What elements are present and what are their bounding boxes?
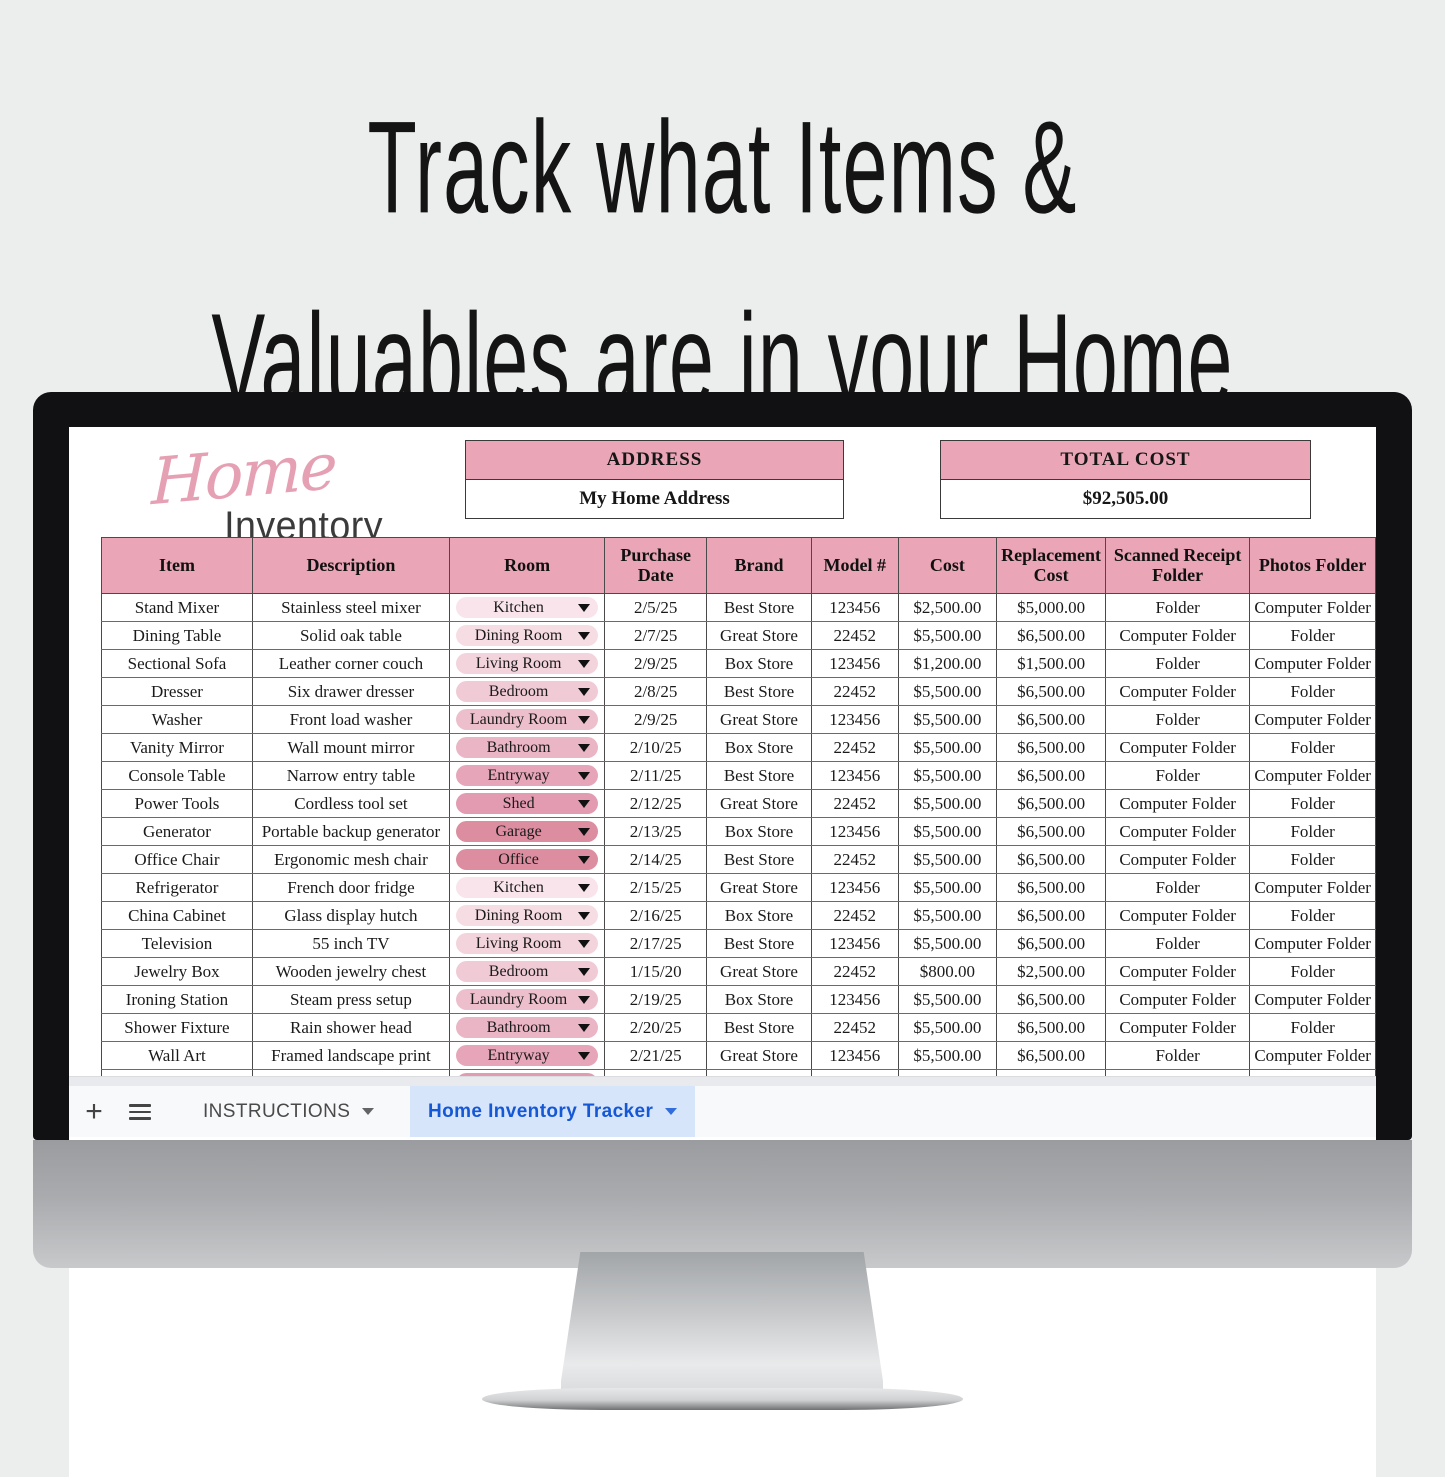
cell-date[interactable]: 2/17/25 <box>605 930 707 958</box>
room-chip-label: Kitchen <box>462 599 575 617</box>
cell-replacement[interactable]: $6,500.00 <box>997 678 1106 706</box>
cell-receipt[interactable]: Folder <box>1105 874 1249 902</box>
cell-photos[interactable]: Computer Folder <box>1250 930 1376 958</box>
table-row: Office ChairErgonomic mesh chairOffice2/… <box>102 846 1376 874</box>
cell-photos[interactable]: Folder <box>1250 622 1376 650</box>
cell-brand[interactable]: Great Store <box>707 1042 812 1070</box>
room-chip-label: Entryway <box>462 1047 575 1065</box>
cell-receipt[interactable]: Computer Folder <box>1105 1014 1249 1042</box>
cell-item[interactable]: Dining Table <box>102 622 253 650</box>
cell-item[interactable]: Refrigerator <box>102 874 253 902</box>
cell-model[interactable]: 22452 <box>811 846 898 874</box>
cell-cost[interactable]: $5,500.00 <box>898 762 996 790</box>
cell-receipt[interactable]: Computer Folder <box>1105 790 1249 818</box>
cell-photos[interactable]: Computer Folder <box>1250 594 1376 622</box>
room-chip-label: Garage <box>462 823 575 841</box>
cell-room-dropdown[interactable]: Bathroom <box>449 1014 604 1042</box>
cell-receipt[interactable]: Computer Folder <box>1105 622 1249 650</box>
cell-brand[interactable]: Best Store <box>707 930 812 958</box>
cell-photos[interactable]: Computer Folder <box>1250 1042 1376 1070</box>
cell-cost[interactable]: $5,500.00 <box>898 678 996 706</box>
sheet-tab-instructions[interactable]: INSTRUCTIONS <box>185 1086 392 1137</box>
cell-description[interactable]: Glass display hutch <box>252 902 449 930</box>
cell-item[interactable]: Generator <box>102 818 253 846</box>
room-chip[interactable]: Bedroom <box>456 961 598 982</box>
room-chip-label: Office <box>462 851 575 869</box>
cell-item[interactable]: Washer <box>102 706 253 734</box>
cell-receipt[interactable]: Computer Folder <box>1105 846 1249 874</box>
cell-replacement[interactable]: $6,500.00 <box>997 846 1106 874</box>
room-chip-label: Entryway <box>462 767 575 785</box>
sheet-tab-instructions-label: INSTRUCTIONS <box>203 1101 350 1123</box>
cell-date[interactable]: 2/16/25 <box>605 902 707 930</box>
room-chip-label: Kitchen <box>462 879 575 897</box>
inventory-table: ItemDescriptionRoomPurchase DateBrandMod… <box>101 537 1376 1076</box>
column-header-item[interactable]: Item <box>102 538 253 594</box>
chevron-down-icon[interactable] <box>578 996 590 1004</box>
table-row: Console TableNarrow entry tableEntryway2… <box>102 762 1376 790</box>
cell-date[interactable]: 2/5/25 <box>605 594 707 622</box>
all-sheets-menu-icon[interactable] <box>125 1097 155 1127</box>
monitor-lower-body <box>33 1140 1412 1268</box>
cell-date[interactable]: 2/9/25 <box>605 650 707 678</box>
cell-room-dropdown[interactable]: Office <box>449 846 604 874</box>
cell-photos[interactable]: Folder <box>1250 1014 1376 1042</box>
chevron-down-icon[interactable] <box>578 772 590 780</box>
cell-cost[interactable]: $2,500.00 <box>898 594 996 622</box>
room-chip[interactable]: Dining Room <box>456 905 598 926</box>
cell-item[interactable]: Shower Fixture <box>102 1014 253 1042</box>
cell-brand[interactable]: Best Store <box>707 594 812 622</box>
cell-brand[interactable]: Best Store <box>707 678 812 706</box>
cell-brand[interactable]: Box Store <box>707 650 812 678</box>
chevron-down-icon[interactable] <box>578 912 590 920</box>
chevron-down-icon[interactable] <box>578 604 590 612</box>
cell-date[interactable]: 1/15/20 <box>605 958 707 986</box>
cell-date[interactable]: 2/8/25 <box>605 678 707 706</box>
cell-brand[interactable]: Great Store <box>707 706 812 734</box>
chevron-down-icon[interactable] <box>578 1052 590 1060</box>
cell-item[interactable]: Television <box>102 930 253 958</box>
table-row: GeneratorPortable backup generatorGarage… <box>102 818 1376 846</box>
room-chip-label: Bedroom <box>462 683 575 701</box>
cell-item[interactable]: Power Tools <box>102 790 253 818</box>
cell-receipt[interactable]: Folder <box>1105 930 1249 958</box>
room-chip[interactable]: Laundry Room <box>456 989 598 1010</box>
cell-brand[interactable]: Great Store <box>707 622 812 650</box>
cell-cost[interactable]: $5,500.00 <box>898 790 996 818</box>
room-chip-label: Bathroom <box>462 1019 575 1037</box>
chevron-down-icon[interactable] <box>578 800 590 808</box>
column-header-brand[interactable]: Brand <box>707 538 812 594</box>
room-chip[interactable]: Office <box>456 849 598 870</box>
cell-replacement[interactable]: $6,500.00 <box>997 874 1106 902</box>
cell-item[interactable]: China Cabinet <box>102 902 253 930</box>
cell-room-dropdown[interactable]: Bedroom <box>449 678 604 706</box>
cell-model[interactable]: 123456 <box>811 762 898 790</box>
cell-replacement[interactable]: $6,500.00 <box>997 706 1106 734</box>
room-chip[interactable]: Bathroom <box>456 1017 598 1038</box>
cell-description[interactable]: Front load washer <box>252 706 449 734</box>
room-chip-label: Laundry Room <box>462 991 575 1009</box>
chevron-down-icon[interactable] <box>578 688 590 696</box>
cell-item[interactable]: Jewelry Box <box>102 958 253 986</box>
column-header-scanned-receipt-folder[interactable]: Scanned Receipt Folder <box>1105 538 1249 594</box>
cell-photos[interactable]: Computer Folder <box>1250 986 1376 1014</box>
cell-item[interactable]: Vanity Mirror <box>102 734 253 762</box>
home-inventory-logo: Home Inventory <box>151 442 451 552</box>
room-chip-label: Laundry Room <box>462 711 575 729</box>
monitor-stand-base <box>482 1388 963 1410</box>
cell-replacement[interactable]: $6,500.00 <box>997 930 1106 958</box>
cell-model[interactable]: 123456 <box>811 930 898 958</box>
room-chip[interactable]: Laundry Room <box>456 709 598 730</box>
column-header-purchase-date[interactable]: Purchase Date <box>605 538 707 594</box>
room-chip[interactable]: Dining Room <box>456 625 598 646</box>
sheet-tab-home-inventory-tracker[interactable]: Home Inventory Tracker <box>410 1086 695 1137</box>
cell-item[interactable]: Wall Art <box>102 1042 253 1070</box>
cell-replacement[interactable]: $5,000.00 <box>997 594 1106 622</box>
room-chip[interactable]: Shed <box>456 793 598 814</box>
chevron-down-icon[interactable] <box>578 884 590 892</box>
cell-description[interactable]: Wall mount mirror <box>252 734 449 762</box>
column-header-description[interactable]: Description <box>252 538 449 594</box>
cell-room-dropdown[interactable]: Garage <box>449 818 604 846</box>
cell-cost[interactable]: $5,500.00 <box>898 874 996 902</box>
cell-receipt[interactable]: Folder <box>1105 1042 1249 1070</box>
table-row: China CabinetGlass display hutchDining R… <box>102 902 1376 930</box>
chevron-down-icon[interactable] <box>578 716 590 724</box>
cell-photos[interactable]: Folder <box>1250 678 1376 706</box>
cell-cost[interactable]: $5,500.00 <box>898 846 996 874</box>
cell-model[interactable]: 123456 <box>811 874 898 902</box>
cell-description[interactable]: Framed landscape print <box>252 1042 449 1070</box>
cell-replacement[interactable]: $6,500.00 <box>997 818 1106 846</box>
cell-date[interactable]: 2/12/25 <box>605 790 707 818</box>
cell-replacement[interactable]: $6,500.00 <box>997 1014 1106 1042</box>
cell-room-dropdown[interactable]: Laundry Room <box>449 986 604 1014</box>
cell-model[interactable]: 123456 <box>811 986 898 1014</box>
room-chip[interactable]: Living Room <box>456 933 598 954</box>
cell-model[interactable]: 22452 <box>811 958 898 986</box>
cell-photos[interactable]: Folder <box>1250 734 1376 762</box>
cell-receipt[interactable]: Computer Folder <box>1105 958 1249 986</box>
cell-description[interactable]: Portable backup generator <box>252 818 449 846</box>
cell-model[interactable]: 123456 <box>811 594 898 622</box>
cell-replacement[interactable]: $6,500.00 <box>997 1042 1106 1070</box>
monitor-stand-neck <box>561 1252 883 1402</box>
address-label: ADDRESS <box>465 440 844 480</box>
chevron-down-icon[interactable] <box>578 940 590 948</box>
cell-cost[interactable]: $5,500.00 <box>898 706 996 734</box>
cell-receipt[interactable]: Folder <box>1105 762 1249 790</box>
cell-cost[interactable]: $5,500.00 <box>898 622 996 650</box>
cell-model[interactable]: 123456 <box>811 818 898 846</box>
cell-brand[interactable]: Great Store <box>707 958 812 986</box>
address-box: ADDRESS My Home Address <box>465 440 844 519</box>
cell-description[interactable]: Solid oak table <box>252 622 449 650</box>
room-chip[interactable]: Kitchen <box>456 877 598 898</box>
column-header-photos-folder[interactable]: Photos Folder <box>1250 538 1376 594</box>
cell-description[interactable]: 55 inch TV <box>252 930 449 958</box>
table-row: RefrigeratorFrench door fridgeKitchen2/1… <box>102 874 1376 902</box>
cell-date[interactable]: 2/20/25 <box>605 1014 707 1042</box>
chevron-down-icon[interactable] <box>578 744 590 752</box>
cell-receipt[interactable]: Computer Folder <box>1105 734 1249 762</box>
cell-cost[interactable]: $5,500.00 <box>898 1042 996 1070</box>
table-row: Dining TableSolid oak tableDining Room2/… <box>102 622 1376 650</box>
cell-receipt[interactable]: Computer Folder <box>1105 818 1249 846</box>
cell-date[interactable]: 2/15/25 <box>605 874 707 902</box>
cell-description[interactable]: Rain shower head <box>252 1014 449 1042</box>
cell-brand[interactable]: Great Store <box>707 790 812 818</box>
cell-cost[interactable]: $5,500.00 <box>898 902 996 930</box>
room-chip-label: Bathroom <box>462 739 575 757</box>
cell-replacement[interactable]: $6,500.00 <box>997 790 1106 818</box>
cell-item[interactable]: Stand Mixer <box>102 594 253 622</box>
cell-photos[interactable]: Folder <box>1250 902 1376 930</box>
room-chip[interactable]: Living Room <box>456 653 598 674</box>
cell-model[interactable]: 22452 <box>811 1014 898 1042</box>
add-sheet-icon[interactable]: + <box>79 1097 109 1127</box>
total-cost-value: $92,505.00 <box>940 480 1311 519</box>
cell-receipt[interactable]: Folder <box>1105 706 1249 734</box>
cell-description[interactable]: Ergonomic mesh chair <box>252 846 449 874</box>
cell-room-dropdown[interactable]: Entryway <box>449 1042 604 1070</box>
cell-description[interactable]: Narrow entry table <box>252 762 449 790</box>
cell-date[interactable]: 2/7/25 <box>605 622 707 650</box>
chevron-down-icon[interactable] <box>578 828 590 836</box>
cell-brand[interactable]: Box Store <box>707 734 812 762</box>
cell-date[interactable]: 2/13/25 <box>605 818 707 846</box>
cell-receipt[interactable]: Computer Folder <box>1105 902 1249 930</box>
cell-description[interactable]: French door fridge <box>252 874 449 902</box>
cell-brand[interactable]: Box Store <box>707 818 812 846</box>
chevron-down-icon[interactable] <box>578 968 590 976</box>
table-row: Power ToolsCordless tool setShed2/12/25G… <box>102 790 1376 818</box>
table-row: Stand MixerStainless steel mixerKitchen2… <box>102 594 1376 622</box>
address-value[interactable]: My Home Address <box>465 480 844 519</box>
cell-room-dropdown[interactable]: Dining Room <box>449 622 604 650</box>
room-chip-label: Dining Room <box>462 627 575 645</box>
chevron-down-icon[interactable] <box>362 1108 374 1115</box>
cell-item[interactable]: Ironing Station <box>102 986 253 1014</box>
cell-model[interactable]: 123456 <box>811 1042 898 1070</box>
cell-date[interactable]: 2/21/25 <box>605 1042 707 1070</box>
cell-replacement[interactable]: $6,500.00 <box>997 986 1106 1014</box>
cell-receipt[interactable]: Folder <box>1105 650 1249 678</box>
column-header-replacement-cost[interactable]: Replacement Cost <box>997 538 1106 594</box>
table-row: WasherFront load washerLaundry Room2/9/2… <box>102 706 1376 734</box>
cell-brand[interactable]: Great Store <box>707 874 812 902</box>
cell-room-dropdown[interactable]: Entryway <box>449 762 604 790</box>
cell-receipt[interactable]: Computer Folder <box>1105 678 1249 706</box>
cell-brand[interactable]: Best Store <box>707 762 812 790</box>
cell-model[interactable]: 22452 <box>811 678 898 706</box>
cell-cost[interactable]: $1,200.00 <box>898 650 996 678</box>
cell-cost[interactable]: $5,500.00 <box>898 1014 996 1042</box>
room-chip-label: Bedroom <box>462 963 575 981</box>
cell-room-dropdown[interactable]: Bathroom <box>449 734 604 762</box>
cell-photos[interactable]: Computer Folder <box>1250 762 1376 790</box>
spreadsheet-area: Home Inventory ADDRESS My Home Address T… <box>69 427 1376 1076</box>
cell-brand[interactable]: Box Store <box>707 986 812 1014</box>
cell-photos[interactable]: Computer Folder <box>1250 650 1376 678</box>
cell-description[interactable]: Wooden jewelry chest <box>252 958 449 986</box>
cell-model[interactable]: 123456 <box>811 650 898 678</box>
cell-item[interactable]: Sectional Sofa <box>102 650 253 678</box>
room-chip[interactable]: Garage <box>456 821 598 842</box>
cell-item[interactable]: Office Chair <box>102 846 253 874</box>
table-row: Shower FixtureRain shower headBathroom2/… <box>102 1014 1376 1042</box>
chevron-down-icon[interactable] <box>578 660 590 668</box>
cell-description[interactable]: Six drawer dresser <box>252 678 449 706</box>
cell-photos[interactable]: Computer Folder <box>1250 706 1376 734</box>
table-row: Ironing StationSteam press setupLaundry … <box>102 986 1376 1014</box>
table-row: DresserSix drawer dresserBedroom2/8/25Be… <box>102 678 1376 706</box>
cell-room-dropdown[interactable]: Living Room <box>449 650 604 678</box>
room-chip-label: Living Room <box>462 655 575 673</box>
cell-brand[interactable]: Best Store <box>707 1014 812 1042</box>
cell-brand[interactable]: Best Store <box>707 846 812 874</box>
chevron-down-icon[interactable] <box>665 1108 677 1115</box>
total-cost-label: TOTAL COST <box>940 440 1311 480</box>
cell-room-dropdown[interactable]: Kitchen <box>449 594 604 622</box>
cell-description[interactable]: Steam press setup <box>252 986 449 1014</box>
monitor-mockup: Home Inventory ADDRESS My Home Address T… <box>33 392 1412 1140</box>
cell-replacement[interactable]: $2,500.00 <box>997 958 1106 986</box>
cell-receipt[interactable]: Folder <box>1105 594 1249 622</box>
cell-date[interactable]: 2/9/25 <box>605 706 707 734</box>
headline-line-1: Track what Items & <box>145 72 1301 264</box>
cell-model[interactable]: 123456 <box>811 706 898 734</box>
table-row: Jewelry BoxWooden jewelry chestBedroom1/… <box>102 958 1376 986</box>
room-chip-label: Shed <box>462 795 575 813</box>
tabbar-top-strip <box>69 1077 1376 1086</box>
cell-model[interactable]: 22452 <box>811 902 898 930</box>
room-chip-label: Dining Room <box>462 907 575 925</box>
cell-model[interactable]: 22452 <box>811 622 898 650</box>
cell-photos[interactable]: Computer Folder <box>1250 874 1376 902</box>
cell-description[interactable]: Leather corner couch <box>252 650 449 678</box>
cell-date[interactable]: 2/10/25 <box>605 734 707 762</box>
cell-receipt[interactable]: Computer Folder <box>1105 986 1249 1014</box>
cell-cost[interactable]: $5,500.00 <box>898 986 996 1014</box>
cell-room-dropdown[interactable]: Shed <box>449 790 604 818</box>
cell-date[interactable]: 2/19/25 <box>605 986 707 1014</box>
column-header-room[interactable]: Room <box>449 538 604 594</box>
cell-replacement[interactable]: $6,500.00 <box>997 734 1106 762</box>
cell-room-dropdown[interactable]: Laundry Room <box>449 706 604 734</box>
cell-model[interactable]: 22452 <box>811 790 898 818</box>
cell-cost[interactable]: $5,500.00 <box>898 930 996 958</box>
cell-photos[interactable]: Folder <box>1250 790 1376 818</box>
column-header-cost[interactable]: Cost <box>898 538 996 594</box>
column-header-model[interactable]: Model # <box>811 538 898 594</box>
sheet-tab-bar: + INSTRUCTIONS Home Inventory Tracker <box>69 1076 1376 1137</box>
cell-brand[interactable]: Box Store <box>707 902 812 930</box>
chevron-down-icon[interactable] <box>578 856 590 864</box>
cell-room-dropdown[interactable]: Kitchen <box>449 874 604 902</box>
chevron-down-icon[interactable] <box>578 1024 590 1032</box>
table-row: Television55 inch TVLiving Room2/17/25Be… <box>102 930 1376 958</box>
cell-replacement[interactable]: $1,500.00 <box>997 650 1106 678</box>
cell-replacement[interactable]: $6,500.00 <box>997 902 1106 930</box>
cell-item[interactable]: Console Table <box>102 762 253 790</box>
cell-date[interactable]: 2/11/25 <box>605 762 707 790</box>
cell-photos[interactable]: Folder <box>1250 818 1376 846</box>
room-chip-label: Living Room <box>462 935 575 953</box>
cell-replacement[interactable]: $6,500.00 <box>997 622 1106 650</box>
room-chip[interactable]: Bedroom <box>456 681 598 702</box>
table-row: Vanity MirrorWall mount mirrorBathroom2/… <box>102 734 1376 762</box>
table-row: Wall ArtFramed landscape printEntryway2/… <box>102 1042 1376 1070</box>
cell-cost[interactable]: $800.00 <box>898 958 996 986</box>
cell-photos[interactable]: Folder <box>1250 958 1376 986</box>
chevron-down-icon[interactable] <box>578 632 590 640</box>
table-header-row: ItemDescriptionRoomPurchase DateBrandMod… <box>102 538 1376 594</box>
cell-room-dropdown[interactable]: Bedroom <box>449 958 604 986</box>
sheet-tab-tracker-label: Home Inventory Tracker <box>428 1101 653 1123</box>
cell-description[interactable]: Stainless steel mixer <box>252 594 449 622</box>
cell-item[interactable]: Dresser <box>102 678 253 706</box>
cell-replacement[interactable]: $6,500.00 <box>997 762 1106 790</box>
hamburger-icon <box>129 1100 151 1124</box>
cell-room-dropdown[interactable]: Dining Room <box>449 902 604 930</box>
cell-model[interactable]: 22452 <box>811 734 898 762</box>
cell-cost[interactable]: $5,500.00 <box>898 734 996 762</box>
room-chip[interactable]: Entryway <box>456 1045 598 1066</box>
table-row: Sectional SofaLeather corner couchLiving… <box>102 650 1376 678</box>
cell-room-dropdown[interactable]: Living Room <box>449 930 604 958</box>
cell-date[interactable]: 2/14/25 <box>605 846 707 874</box>
room-chip[interactable]: Kitchen <box>456 597 598 618</box>
table-body: Stand MixerStainless steel mixerKitchen2… <box>102 594 1376 1077</box>
room-chip[interactable]: Entryway <box>456 765 598 786</box>
cell-photos[interactable]: Folder <box>1250 846 1376 874</box>
cell-cost[interactable]: $5,500.00 <box>898 818 996 846</box>
room-chip[interactable]: Bathroom <box>456 737 598 758</box>
cell-description[interactable]: Cordless tool set <box>252 790 449 818</box>
total-cost-box: TOTAL COST $92,505.00 <box>940 440 1311 519</box>
